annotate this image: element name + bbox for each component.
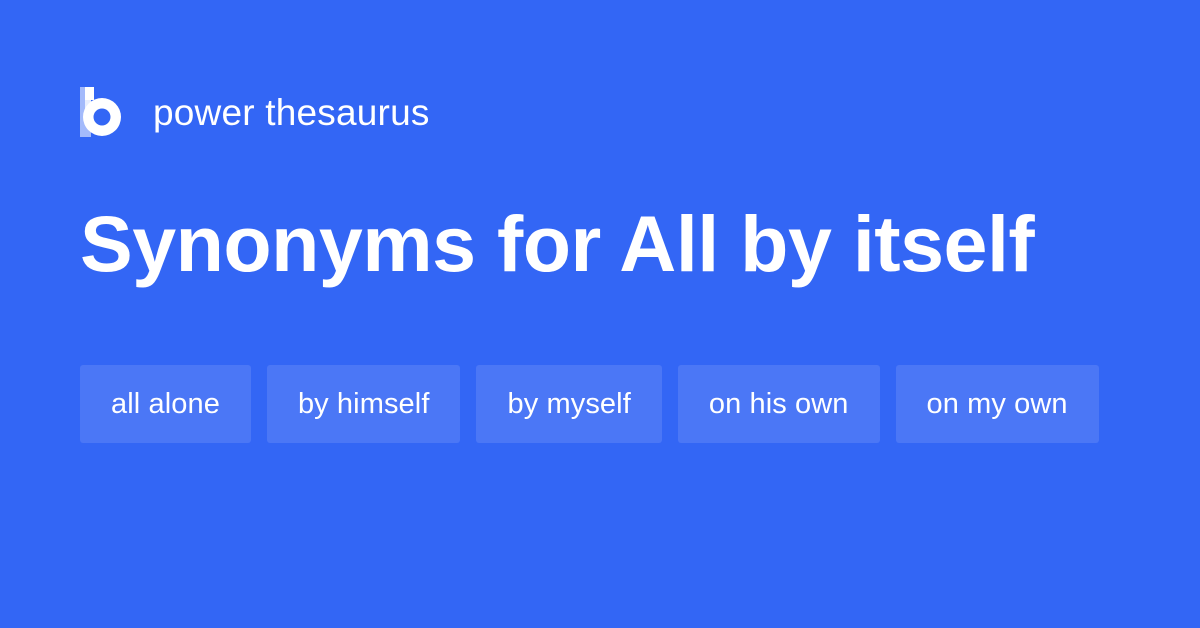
page-title: Synonyms for All by itself — [80, 196, 1140, 292]
synonym-tag-list: all alone by himself by myself on his ow… — [80, 365, 1120, 443]
synonym-tag[interactable]: on my own — [896, 365, 1099, 443]
synonym-tag[interactable]: by himself — [267, 365, 461, 443]
synonym-tag[interactable]: on his own — [678, 365, 880, 443]
brand-name: power thesaurus — [153, 94, 430, 131]
synonym-tag[interactable]: all alone — [80, 365, 251, 443]
open-graph-card: power thesaurus Synonyms for All by itse… — [0, 0, 1200, 628]
brand-header[interactable]: power thesaurus — [80, 86, 430, 138]
synonym-tag[interactable]: by myself — [476, 365, 661, 443]
power-thesaurus-b-logo-icon — [80, 87, 126, 137]
